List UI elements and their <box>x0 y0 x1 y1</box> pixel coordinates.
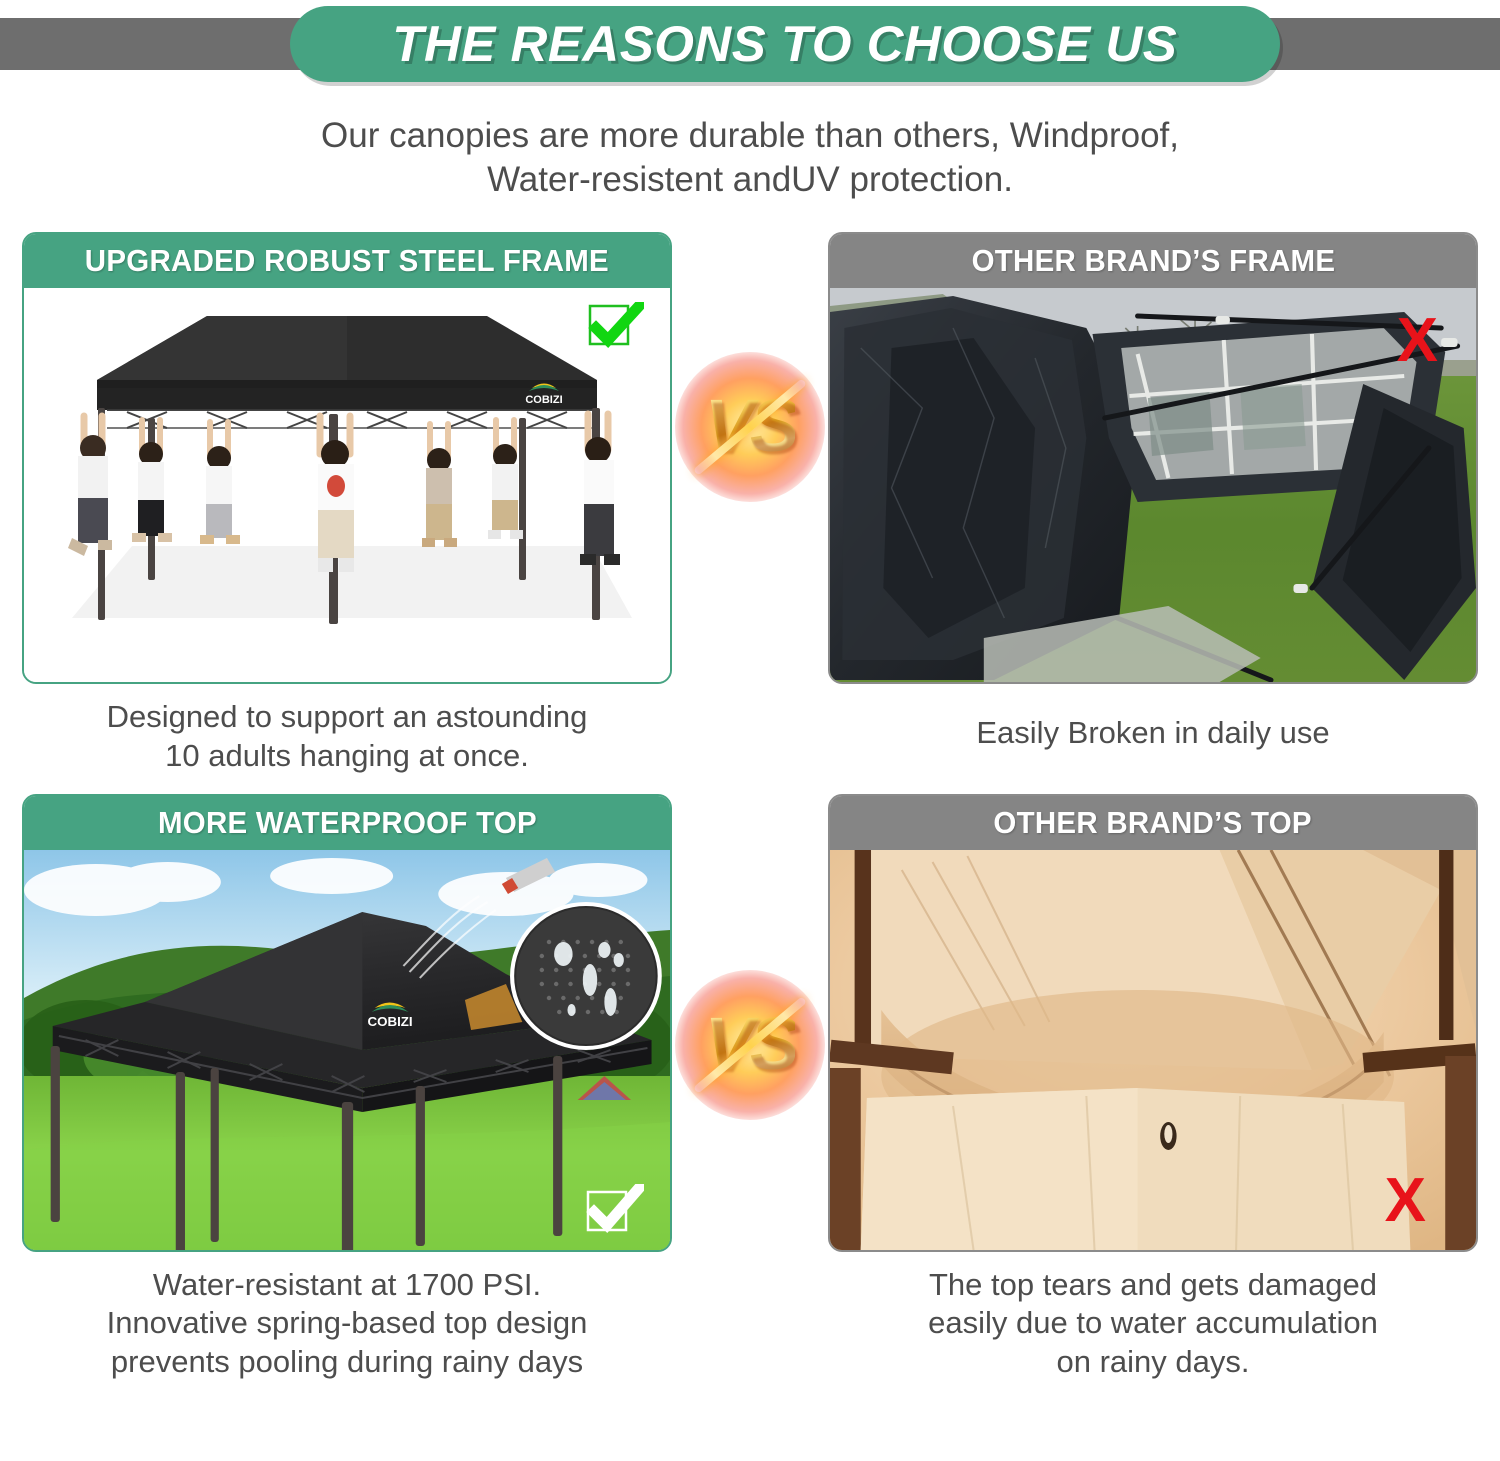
water-beading-inset <box>512 904 660 1048</box>
panel-more-waterproof-top: MORE WATERPROOF TOP <box>22 794 672 1252</box>
panel-image-more-waterproof-top: COBIZI <box>24 850 670 1250</box>
panel-other-brands-top: OTHER BRAND’S TOP <box>828 794 1478 1252</box>
caption-other-brands-frame: Easily Broken in daily use <box>828 684 1478 753</box>
panel-header-upgraded-steel-frame: UPGRADED ROBUST STEEL FRAME <box>24 234 670 288</box>
panel-header-label: UPGRADED ROBUST STEEL FRAME <box>85 243 609 279</box>
panel-header-label: OTHER BRAND’S FRAME <box>971 243 1335 279</box>
caption-line: on rainy days. <box>828 1343 1478 1382</box>
caption-line: Innovative spring-based top design <box>22 1304 672 1343</box>
header-bar-left <box>0 18 330 70</box>
vs-badge-top: VS <box>675 352 825 502</box>
panel-header-other-brands-top: OTHER BRAND’S TOP <box>830 796 1476 850</box>
page-header-banner: THE REASONS TO CHOOSE US <box>0 0 1500 88</box>
broken-canopy-photo <box>830 288 1476 682</box>
panel-other-brands-frame: OTHER BRAND’S FRAME <box>828 232 1478 684</box>
header-pill: THE REASONS TO CHOOSE US <box>290 6 1280 82</box>
subtitle-line-1: Our canopies are more durable than other… <box>150 114 1350 158</box>
comparison-grid: UPGRADED ROBUST STEEL FRAME <box>0 232 1500 1382</box>
panel-header-other-brands-frame: OTHER BRAND’S FRAME <box>830 234 1476 288</box>
caption-line: Designed to support an astounding <box>22 698 672 737</box>
panel-image-other-brands-top: X <box>830 850 1476 1250</box>
caption-upgraded-steel-frame: Designed to support an astounding 10 adu… <box>22 684 672 776</box>
comparison-cell-upgraded-steel-frame: UPGRADED ROBUST STEEL FRAME <box>22 232 672 776</box>
caption-line: 10 adults hanging at once. <box>22 737 672 776</box>
canopy-hanging-people-illustration: COBIZI <box>24 288 670 682</box>
panel-image-other-brands-frame: X <box>830 288 1476 682</box>
comparison-cell-more-waterproof-top: MORE WATERPROOF TOP <box>22 794 672 1382</box>
comparison-cell-other-brands-top: OTHER BRAND’S TOP <box>828 794 1478 1382</box>
panel-header-more-waterproof-top: MORE WATERPROOF TOP <box>24 796 670 850</box>
sagging-canopy-photo <box>830 850 1476 1250</box>
check-mark-icon <box>588 302 644 350</box>
check-mark-icon <box>586 1184 644 1234</box>
panel-header-label: OTHER BRAND’S TOP <box>994 805 1312 841</box>
page-subtitle: Our canopies are more durable than other… <box>0 114 1500 202</box>
page-title: THE REASONS TO CHOOSE US <box>393 15 1178 73</box>
caption-line: The top tears and gets damaged <box>828 1266 1478 1305</box>
panel-upgraded-steel-frame: UPGRADED ROBUST STEEL FRAME <box>22 232 672 684</box>
vs-badge-bottom: VS <box>675 970 825 1120</box>
caption-line: Easily Broken in daily use <box>828 714 1478 753</box>
comparison-cell-other-brands-frame: OTHER BRAND’S FRAME <box>828 232 1478 776</box>
cross-mark-icon: X <box>1397 310 1438 372</box>
caption-line: prevents pooling during rainy days <box>22 1343 672 1382</box>
cross-mark-icon: X <box>1385 1170 1426 1232</box>
brand-logo-text: COBIZI <box>367 1014 412 1029</box>
subtitle-line-2: Water-resistent andUV protection. <box>150 158 1350 202</box>
caption-line: easily due to water accumulation <box>828 1304 1478 1343</box>
panel-header-label: MORE WATERPROOF TOP <box>157 805 536 841</box>
panel-image-upgraded-steel-frame: COBIZI <box>24 288 670 682</box>
brand-logo-text: COBIZI <box>525 394 562 406</box>
caption-line: Water-resistant at 1700 PSI. <box>22 1266 672 1305</box>
caption-other-brands-top: The top tears and gets damaged easily du… <box>828 1252 1478 1382</box>
caption-more-waterproof-top: Water-resistant at 1700 PSI. Innovative … <box>22 1252 672 1382</box>
waterproof-canopy-photo: COBIZI <box>24 850 670 1250</box>
header-bar-right <box>1250 18 1500 70</box>
